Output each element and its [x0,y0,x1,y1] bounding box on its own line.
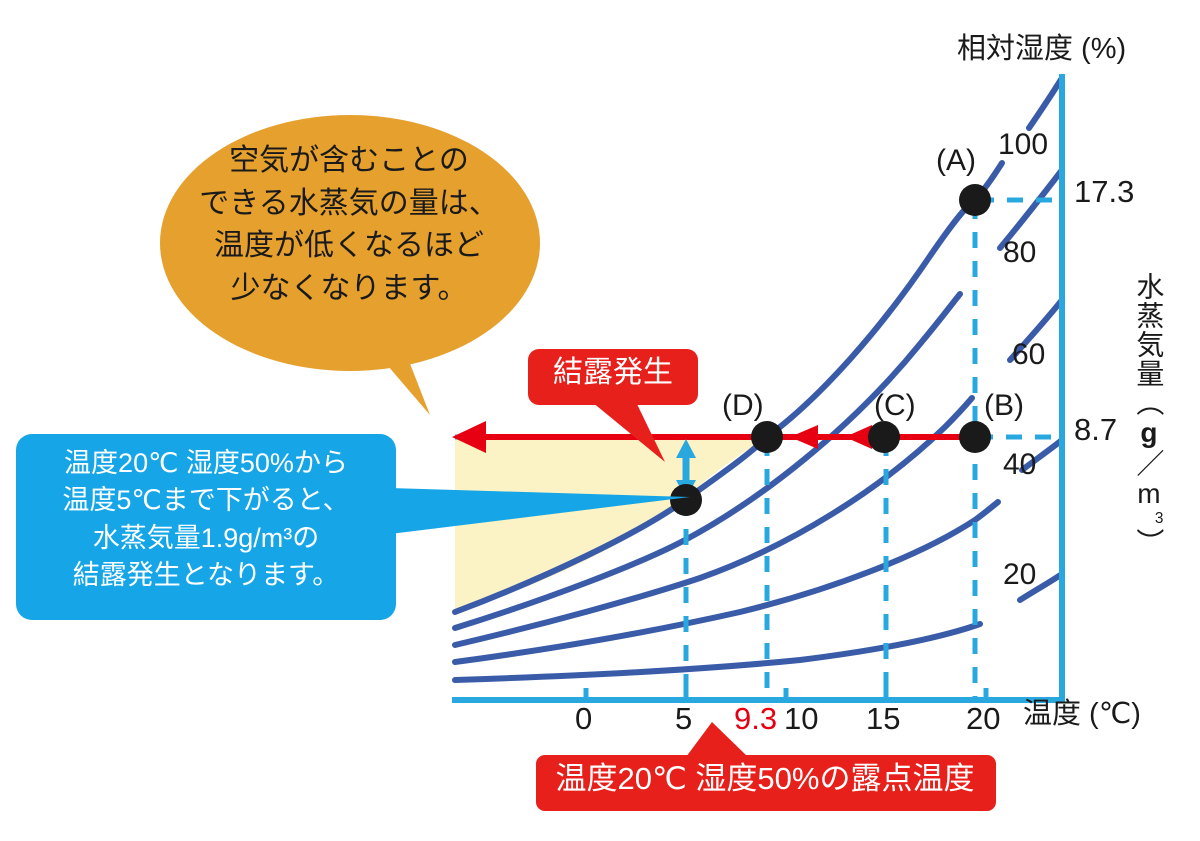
value-label-8-7: 8.7 [1074,414,1117,445]
arrowhead-c-to-d [790,425,818,449]
x-tick-20: 20 [966,703,1000,734]
chart-canvas: 相対湿度 (%) 水蒸気量（g／m3） 温度 (℃) 100 80 60 40 … [0,0,1200,841]
x-tick-5: 5 [675,703,692,734]
blue-callout-line-3: 水蒸気量1.9g/m³の [24,520,388,557]
point-label-c: (C) [874,391,916,421]
orange-bubble-line-4: 少なくなります。 [168,268,530,311]
data-point-a [959,184,991,216]
blue-callout-line-1: 温度20℃ 湿度50%から [24,445,388,482]
x-tick-10: 10 [784,703,818,734]
point-label-a: (A) [936,146,976,176]
data-point-b [959,421,991,453]
orange-bubble-text: 空気が含むことの できる水蒸気の量は、 温度が低くなるほど 少なくなります。 [168,140,530,310]
vapor-amount-axis-title: 水蒸気量（g／m3） [1134,272,1167,557]
curve-label-60: 60 [1012,340,1045,370]
arrowhead-b-to-c [845,425,872,449]
blue-callout-line-2: 温度5℃まで下がると、 [24,482,388,519]
point-label-d: (D) [722,391,764,421]
blue-callout-line-4: 結露発生となります。 [24,557,388,594]
temperature-axis-title: 温度 (℃) [1023,700,1141,729]
x-tick-dew-point: 9.3 [734,703,777,734]
data-point-c [868,421,900,453]
point-label-b: (B) [984,391,1024,421]
condensation-badge-label: 結露発生 [533,358,693,388]
x-tick-0: 0 [575,703,592,734]
orange-bubble-line-1: 空気が含むことの [168,140,530,183]
orange-bubble-line-2: できる水蒸気の量は、 [168,183,530,226]
orange-bubble-line-3: 温度が低くなるほど [168,225,530,268]
rh-curve-100-top [1029,78,1062,128]
curve-label-80: 80 [1003,238,1036,268]
x-tick-15: 15 [866,703,900,734]
relative-humidity-axis-title: 相対湿度 (%) [957,35,1126,64]
curve-label-40: 40 [1003,450,1036,480]
curve-label-100: 100 [998,130,1048,160]
data-point-d [751,421,783,453]
data-point-5c [670,484,702,516]
blue-callout-text: 温度20℃ 湿度50%から 温度5℃まで下がると、 水蒸気量1.9g/m³の 結… [24,445,388,594]
value-label-17-3: 17.3 [1074,176,1134,207]
dew-point-caption-label: 温度20℃ 湿度50%の露点温度 [543,763,987,794]
condensation-region-fill [455,437,767,612]
curve-label-20: 20 [1003,560,1036,590]
